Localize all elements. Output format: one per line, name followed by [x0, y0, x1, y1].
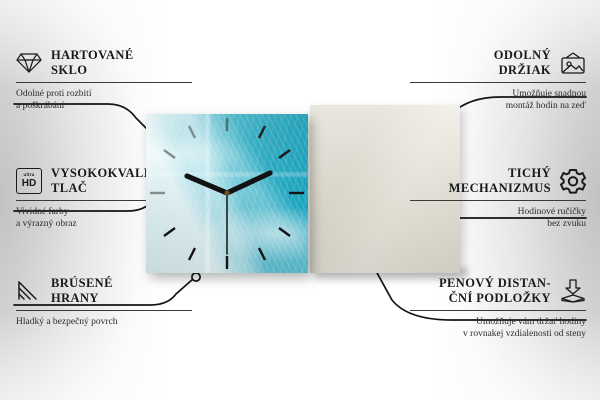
- feature-silent-mechanism: TICHÝ MECHANIZMUS Hodinové ručičky bez z…: [410, 166, 586, 230]
- diamond-icon: [16, 50, 42, 76]
- wall-hanger-icon: [560, 50, 586, 76]
- ground-edges-icon: [16, 278, 42, 304]
- gear-icon: [560, 168, 586, 194]
- feature-title: PENOVÝ DISTAN- ČNÍ PODLOŽKY: [439, 276, 551, 306]
- clock-face: [146, 114, 308, 273]
- feature-head: TICHÝ MECHANIZMUS: [410, 166, 586, 196]
- divider: [410, 82, 586, 83]
- feature-desc: Umožňuje vám držať hodiny v rovnakej vzd…: [410, 316, 586, 340]
- feature-head: ODOLNÝ DRŽIAK: [410, 48, 586, 78]
- feature-tempered-glass: HARTOVANÉ SKLO Odolné proti rozbití a po…: [16, 48, 192, 112]
- divider: [16, 82, 192, 83]
- divider: [410, 200, 586, 201]
- feature-title: BRÚSENÉ HRANY: [51, 276, 113, 306]
- feature-foam-spacers: PENOVÝ DISTAN- ČNÍ PODLOŽKY Umožňuje vám…: [410, 276, 586, 340]
- foam-spacer-icon: [560, 278, 586, 304]
- feature-title: TICHÝ MECHANIZMUS: [449, 166, 551, 196]
- hour-hand: [187, 176, 227, 193]
- divider: [410, 310, 586, 311]
- feature-head: HARTOVANÉ SKLO: [16, 48, 192, 78]
- feature-title: ODOLNÝ DRŽIAK: [494, 48, 551, 78]
- feature-desc: Odolné proti rozbití a poškrábání: [16, 88, 192, 112]
- divider: [16, 310, 192, 311]
- feature-desc: Umožňuje snadnou montáž hodin na zeď: [410, 88, 586, 112]
- feature-ground-edges: BRÚSENÉ HRANY Hladký a bezpečný povrch: [16, 276, 192, 328]
- clock-hands: [146, 114, 308, 273]
- product-infographic: HARTOVANÉ SKLO Odolné proti rozbití a po…: [0, 0, 600, 400]
- hands-hub: [224, 190, 229, 195]
- feature-title: HARTOVANÉ SKLO: [51, 48, 134, 78]
- feature-desc: Hodinové ručičky bez zvuku: [410, 206, 586, 230]
- hd-label: HD: [22, 179, 36, 189]
- feature-desc: Hladký a bezpečný povrch: [16, 316, 192, 328]
- feature-durable-holder: ODOLNÝ DRŽIAK Umožňuje snadnou montáž ho…: [410, 48, 586, 112]
- feature-head: PENOVÝ DISTAN- ČNÍ PODLOŽKY: [410, 276, 586, 306]
- minute-hand: [227, 173, 270, 193]
- ultra-hd-badge-icon: ultra HD: [16, 168, 42, 194]
- feature-head: BRÚSENÉ HRANY: [16, 276, 192, 306]
